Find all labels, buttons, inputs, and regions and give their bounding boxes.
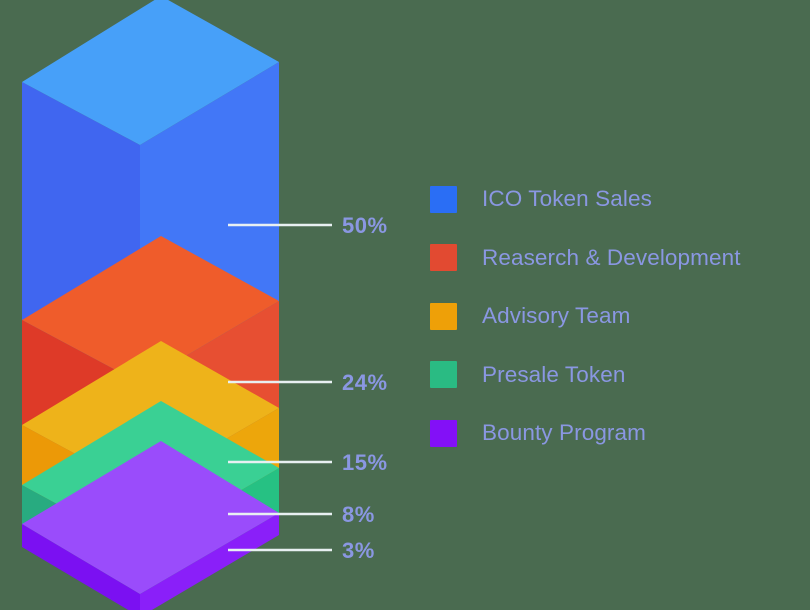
value-label-ico-token-sales: 50% [342,213,388,238]
legend-swatch-ico-token-sales [430,186,457,213]
value-label-advisory-team: 15% [342,450,388,475]
legend-swatch-bounty-program [430,420,457,447]
legend-swatch-reaserch-development [430,244,457,271]
chart-stage: 50% 24% 15% 8% 3% ICO Token Sales Reaser… [0,0,810,610]
legend-label-ico-token-sales: ICO Token Sales [482,186,652,212]
legend-swatch-presale-token [430,361,457,388]
legend-item-bounty-program[interactable]: Bounty Program [430,404,800,463]
legend-label-advisory-team: Advisory Team [482,303,630,329]
value-label-presale-token: 8% [342,502,375,527]
legend-item-reaserch-development[interactable]: Reaserch & Development [430,229,800,288]
legend-label-bounty-program: Bounty Program [482,420,646,446]
value-label-reaserch-development: 24% [342,370,388,395]
legend-item-advisory-team[interactable]: Advisory Team [430,287,800,346]
value-label-bounty-program: 3% [342,538,375,563]
legend-item-presale-token[interactable]: Presale Token [430,346,800,405]
legend-item-ico-token-sales[interactable]: ICO Token Sales [430,170,800,229]
legend-swatch-advisory-team [430,303,457,330]
chart-legend: ICO Token Sales Reaserch & Development A… [430,170,800,463]
legend-label-reaserch-development: Reaserch & Development [482,245,741,271]
legend-label-presale-token: Presale Token [482,362,625,388]
